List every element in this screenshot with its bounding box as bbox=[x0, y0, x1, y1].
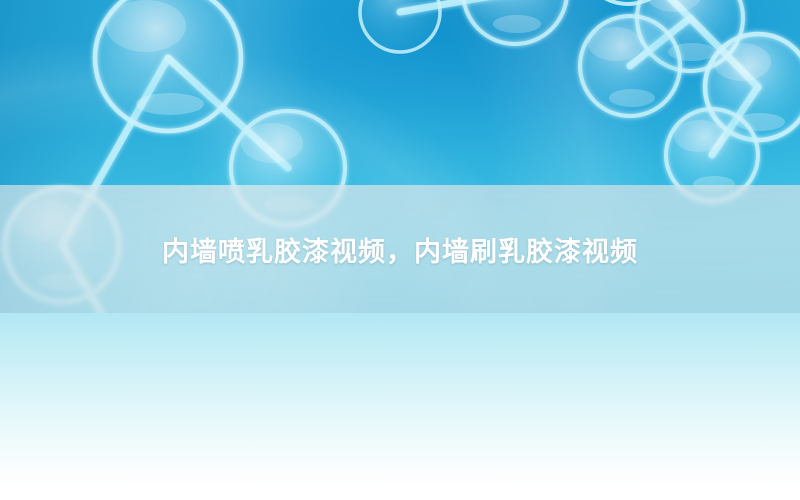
banner-caption: 内墙喷乳胶漆视频，内墙刷乳胶漆视频 bbox=[0, 185, 800, 313]
bubble-node bbox=[580, 16, 680, 116]
molecule-node-group-right bbox=[360, 0, 800, 201]
bubble-node bbox=[360, 0, 440, 52]
bubble-node bbox=[95, 0, 241, 131]
banner-image: 内墙喷乳胶漆视频，内墙刷乳胶漆视频 bbox=[0, 0, 800, 500]
bubble-node bbox=[463, 0, 567, 44]
lower-panel bbox=[0, 313, 800, 500]
